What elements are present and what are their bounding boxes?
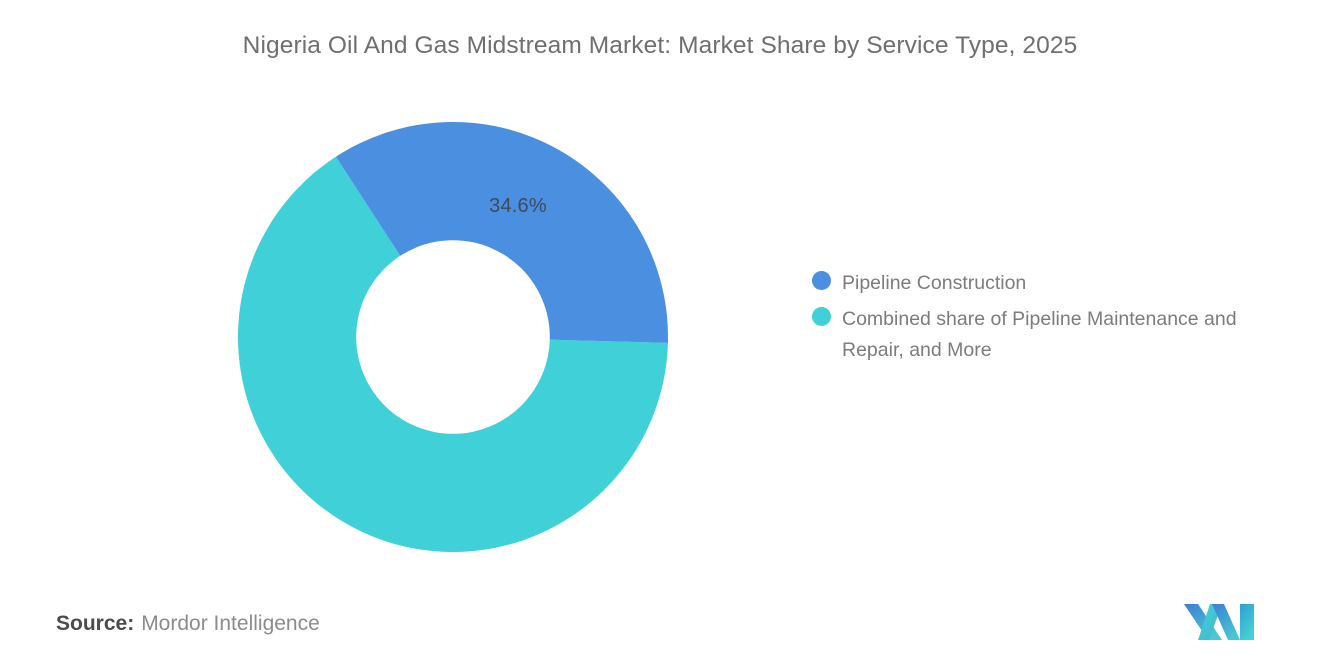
chart-title: Nigeria Oil And Gas Midstream Market: Ma… [0,32,1320,60]
logo-svg [1182,599,1258,641]
donut-svg [238,122,668,552]
donut-hole [356,240,550,434]
legend-swatch-icon [812,307,831,326]
donut-slice-label-pipeline-construction: 34.6% [470,195,566,218]
source-label: Source: [56,612,134,635]
source-attribution: Source:Mordor Intelligence [56,612,320,636]
chart-canvas: Nigeria Oil And Gas Midstream Market: Ma… [0,0,1320,665]
source-value: Mordor Intelligence [141,612,320,635]
legend-swatch-icon [812,271,831,290]
chart-legend: Pipeline Construction Combined share of … [812,268,1282,371]
legend-item-combined-share[interactable]: Combined share of Pipeline Maintenance a… [812,304,1282,366]
legend-item-label: Combined share of Pipeline Maintenance a… [842,304,1260,366]
legend-item-pipeline-construction[interactable]: Pipeline Construction [812,268,1282,299]
legend-item-label: Pipeline Construction [842,268,1026,299]
mordor-intelligence-logo-icon [1182,599,1258,641]
donut-chart [238,122,668,552]
